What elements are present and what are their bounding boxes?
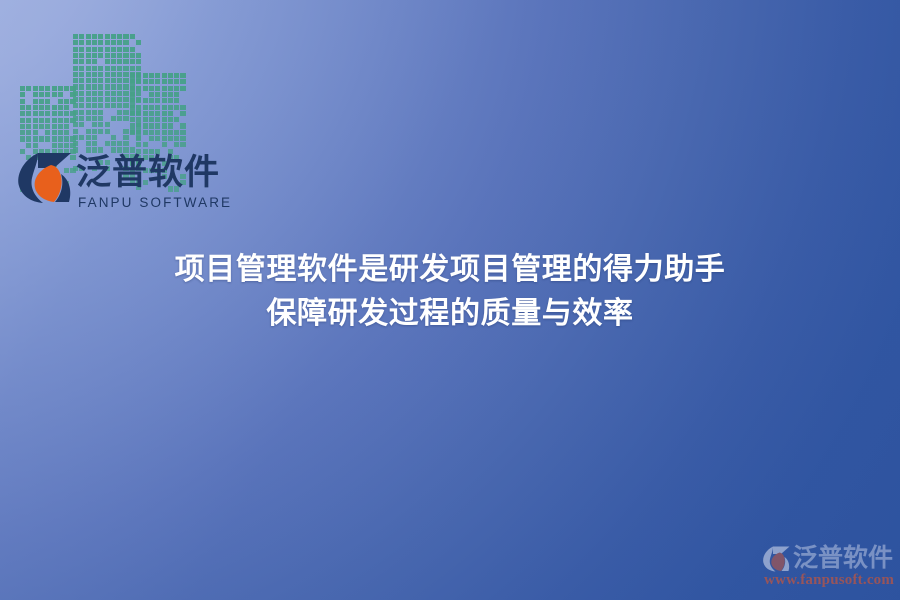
- fanpu-logo-mark-icon: [16, 152, 72, 204]
- promo-banner: 泛普软件 FANPU SOFTWARE 项目管理软件是研发项目管理的得力助手 保…: [0, 0, 900, 600]
- watermark-logo-mark-icon: [762, 546, 790, 572]
- fanpu-logo: 泛普软件 FANPU SOFTWARE: [14, 150, 184, 222]
- headline-line-1: 项目管理软件是研发项目管理的得力助手: [0, 248, 900, 292]
- headline-line-2: 保障研发过程的质量与效率: [0, 292, 900, 336]
- watermark-url: www.fanpusoft.com: [764, 572, 894, 589]
- watermark-brand: 泛普软件: [793, 542, 893, 574]
- site-watermark: 泛普软件 www.fanpusoft.com: [762, 540, 894, 594]
- logo-chinese-name: 泛普软件: [76, 151, 220, 195]
- logo-english-name: FANPU SOFTWARE: [78, 195, 232, 210]
- pixel-skyline-icon: [20, 34, 165, 152]
- headline-text: 项目管理软件是研发项目管理的得力助手 保障研发过程的质量与效率: [0, 248, 900, 336]
